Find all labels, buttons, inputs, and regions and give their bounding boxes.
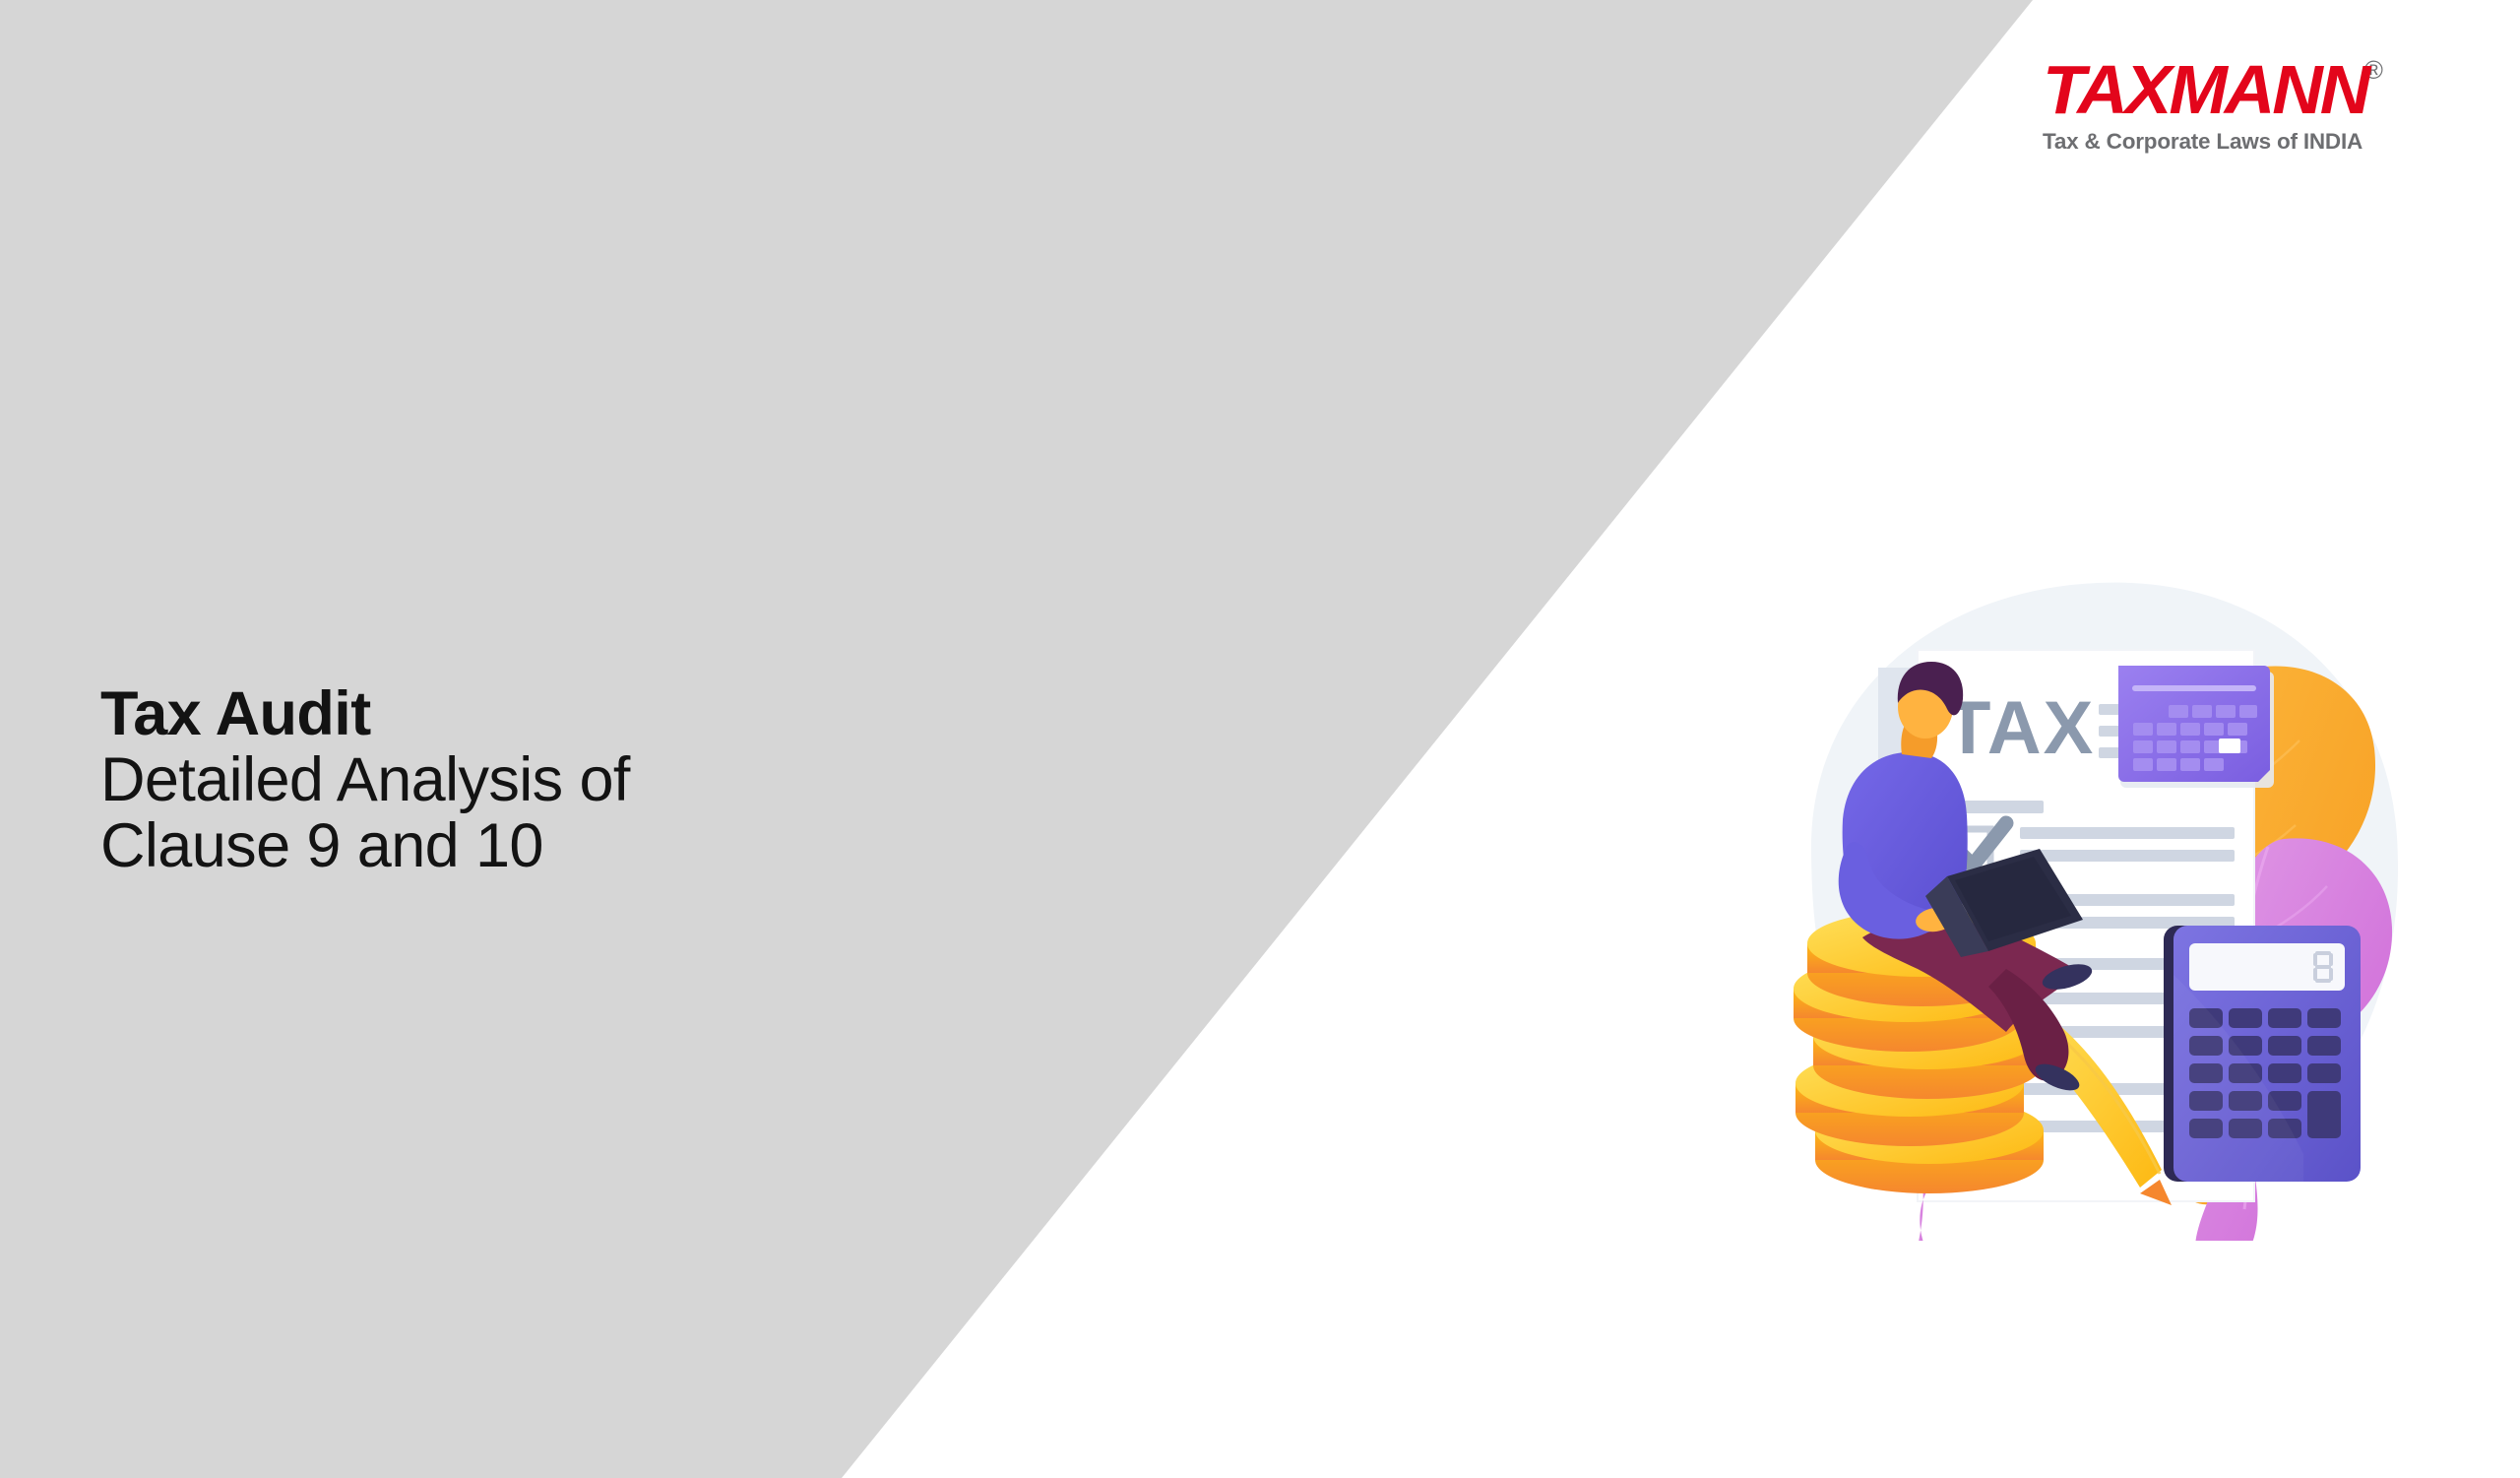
document-tax-heading: TAX <box>1945 686 2095 770</box>
logo-wordmark-row: TAXMANN ® <box>2043 59 2426 120</box>
tax-audit-illustration: TAX <box>1752 551 2441 1241</box>
calculator <box>2164 926 2361 1182</box>
logo-wordmark-text: TAXMANN <box>2043 59 2367 120</box>
title-line-3: Clause 9 and 10 <box>100 813 1183 879</box>
slide-canvas: TAXMANN ® Tax & Corporate Laws of INDIA … <box>0 0 2520 1478</box>
calendar-highlight-cell <box>2219 739 2240 753</box>
taxmann-logo: TAXMANN ® Tax & Corporate Laws of INDIA <box>2043 59 2426 162</box>
title-line-1: Tax Audit <box>100 681 1183 747</box>
page-title: Tax Audit Detailed Analysis of Clause 9 … <box>100 681 1183 878</box>
calendar-card <box>2118 666 2274 788</box>
title-line-2: Detailed Analysis of <box>100 747 1183 813</box>
logo-tagline: Tax & Corporate Laws of INDIA <box>2043 129 2426 155</box>
